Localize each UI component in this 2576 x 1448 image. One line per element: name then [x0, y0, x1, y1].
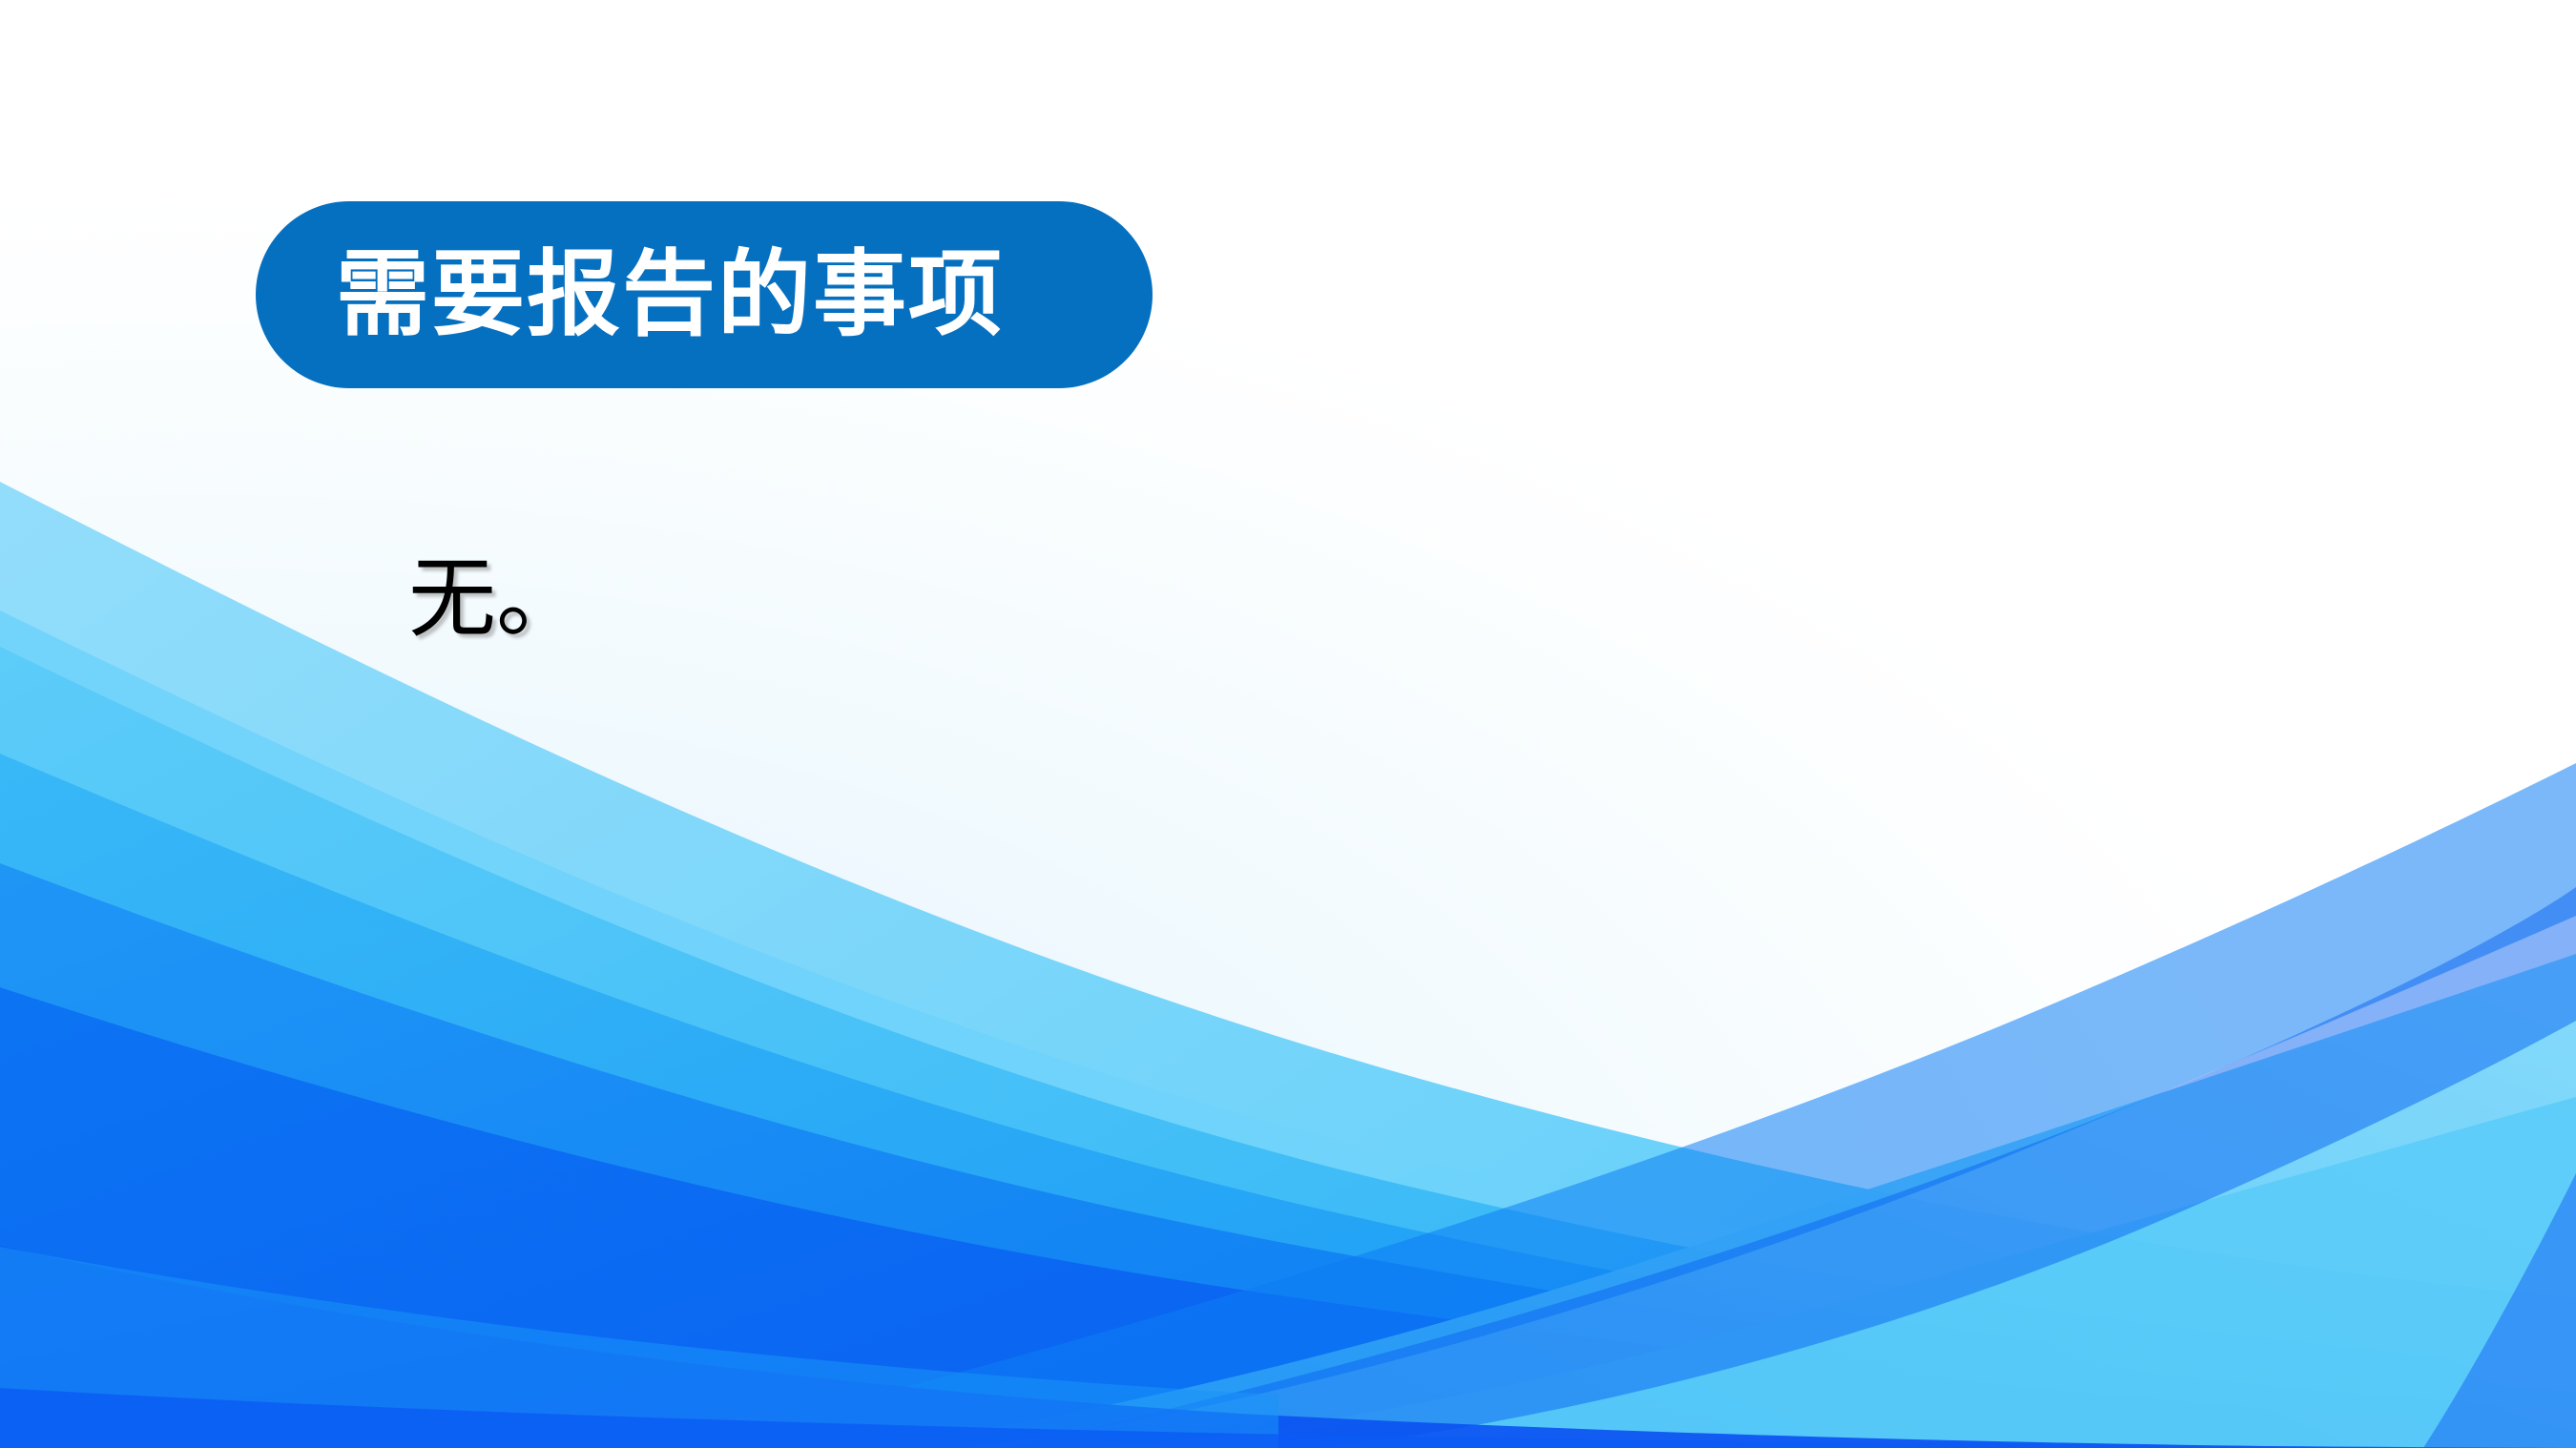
slide-canvas: 需要报告的事项 无。 [0, 0, 2576, 1448]
body-content-block: 无。 [408, 549, 1935, 648]
title-pill: 需要报告的事项 [256, 201, 1153, 388]
page-title: 需要报告的事项 [336, 248, 1004, 341]
body-text: 无。 [408, 549, 1935, 648]
